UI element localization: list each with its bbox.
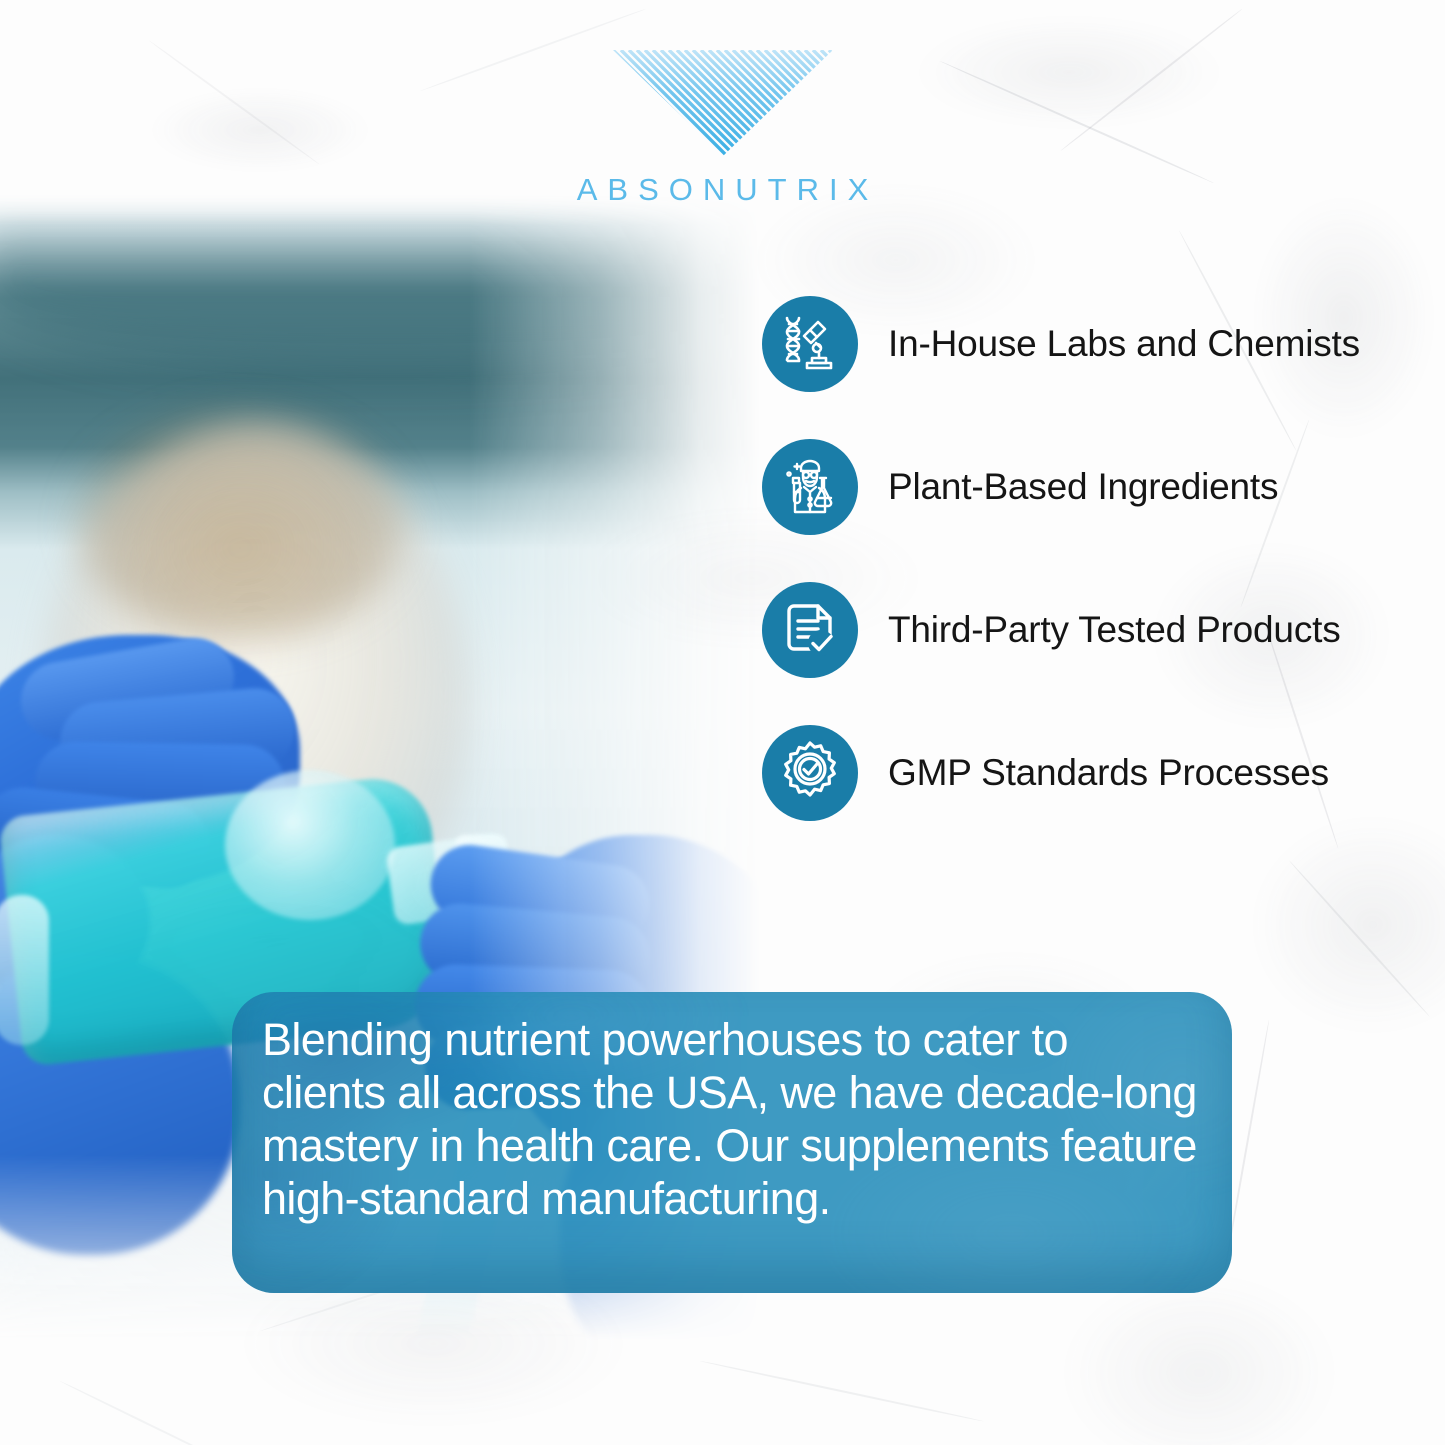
feature-label: GMP Standards Processes <box>888 751 1329 794</box>
feature-item-plant-based: Plant-Based Ingredients <box>762 439 1382 535</box>
brand-wordmark: ABSONUTRIX <box>0 172 1445 208</box>
promo-banner: ABSONUTRIX In-House Labs and Chemist <box>0 0 1445 1445</box>
feature-label: In-House Labs and Chemists <box>888 322 1360 365</box>
document-check-icon <box>762 582 858 678</box>
photo-background-shelf <box>0 195 760 375</box>
photo-flask-rim <box>0 895 49 1045</box>
feature-item-gmp-standards: GMP Standards Processes <box>762 725 1382 821</box>
brand-logo: ABSONUTRIX <box>0 46 1445 208</box>
photo-flask-bulb <box>225 770 395 920</box>
feature-label: Plant-Based Ingredients <box>888 465 1278 508</box>
feature-item-in-house-labs: In-House Labs and Chemists <box>762 296 1382 392</box>
certified-badge-check-icon <box>762 725 858 821</box>
tagline-box: Blending nutrient powerhouses to cater t… <box>232 992 1232 1293</box>
feature-item-third-party-tested: Third-Party Tested Products <box>762 582 1382 678</box>
tagline-text: Blending nutrient powerhouses to cater t… <box>232 992 1232 1226</box>
chemist-flasks-icon <box>762 439 858 535</box>
feature-label: Third-Party Tested Products <box>888 608 1341 651</box>
dna-microscope-icon <box>762 296 858 392</box>
feature-list: In-House Labs and Chemists <box>762 296 1382 821</box>
photo-scientist-hair <box>75 410 405 640</box>
striped-triangle-chevron-icon <box>603 46 843 156</box>
